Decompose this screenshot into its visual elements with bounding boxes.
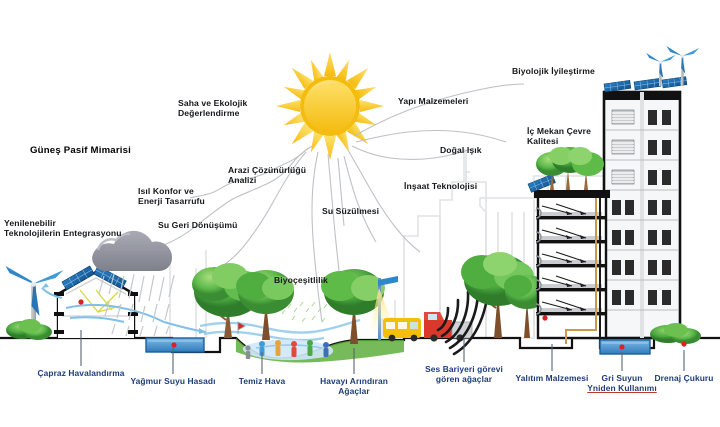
label-insaat-teknolojisi: İnşaat Teknolojisi [404,181,477,191]
label-ic-mekan-cevre-kalitesi: İç Mekan Çevre Kalitesi [527,126,591,146]
label-saha-ve-ekolojik-degerlendirme: Saha ve Ekolojik Değerlendirme [178,98,247,118]
label-yenilenebilir-teknolojilerin-entegrasyonu: Yenilenebilir Teknolojilerin Entegrasyon… [4,218,122,238]
bus-icon [383,318,421,341]
label-havayi-arindiran-agaclar: Havayı Arındıran Ağaçlar [320,377,388,397]
solar-panel-icon [604,77,687,92]
wind-turbine-icon [6,266,64,340]
label-su-suzulmesi: Su Süzülmesi [322,206,379,216]
label-biyolojik-iyilestirme: Biyolojik İyileştirme [512,66,595,76]
label-gunes-pasif-mimarisi: Güneş Pasif Mimarisi [30,145,131,156]
marker-dot [681,341,686,346]
greywater-tank [600,340,650,354]
label-yagmur-suyu-hasadi: Yağmur Suyu Hasadı [130,377,215,387]
sun-icon [254,30,407,183]
rainwater-basin [146,338,204,352]
office-cross-section [534,190,610,344]
marker-dot [78,299,83,304]
marker-dot [619,344,624,349]
label-biyocesitlilik: Biyoçeşitlilik [274,275,328,285]
label-gri-suyun-yniden-kullanimi: Gri SuyunYniden Kullanımı [587,374,657,394]
infographic-canvas: STORE [0,0,720,427]
label-ses-bariyeri-gorevi-goren-agaclar: Ses Bariyeri görevi gören ağaçlar [425,365,503,385]
label-yalitim-malzemesi: Yalıtım Malzemesi [516,374,589,384]
label-drenaj-cukuru: Drenaj Çukuru [654,374,713,384]
green-roof-slab [534,190,610,198]
label-su-geri-donusumu: Su Geri Dönüşümü [158,220,237,230]
label-gri-suyun-yniden-kullanimi-line1: Gri Suyun [602,373,643,383]
label-temiz-hava: Temiz Hava [239,377,285,387]
label-arazi-cozunurlugu-analizi: Arazi Çözünürlüğü Analizi [228,165,306,185]
label-capraz-havalandirma: Çapraz Havalandırma [37,369,124,379]
house-cross-section [54,266,138,338]
label-dogal-isik: Doğal Işık [440,145,482,155]
marker-dot [171,342,176,347]
label-isil-konfor-ve-enerji-tasarrufu: Isıl Konfor ve Enerji Tasarrufu [138,186,205,206]
high-rise-building [604,92,680,338]
label-gri-suyun-yniden-kullanimi-line2: Yniden Kullanımı [587,383,657,393]
marker-dot [542,315,547,320]
label-yapi-malzemeleri: Yapı Malzemeleri [398,96,468,106]
